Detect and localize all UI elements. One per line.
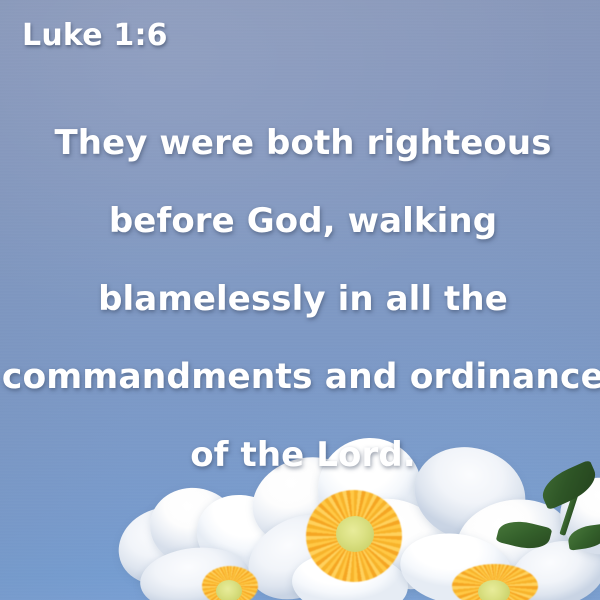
verse-line: blamelessly in all the	[0, 260, 600, 338]
verse-reference: Luke 1:6	[22, 18, 168, 53]
flower-center	[336, 516, 374, 552]
verse-line: commandments and ordinance	[0, 338, 600, 416]
flower-center	[216, 580, 242, 600]
flower-center	[478, 580, 510, 600]
verse-image: Luke 1:6 They were both righteous before…	[0, 0, 600, 600]
verse-text: They were both righteous before God, wal…	[0, 104, 600, 494]
verse-line: before God, walking	[0, 182, 600, 260]
verse-line: They were both righteous	[0, 104, 600, 182]
verse-line: of the Lord.	[0, 416, 600, 494]
